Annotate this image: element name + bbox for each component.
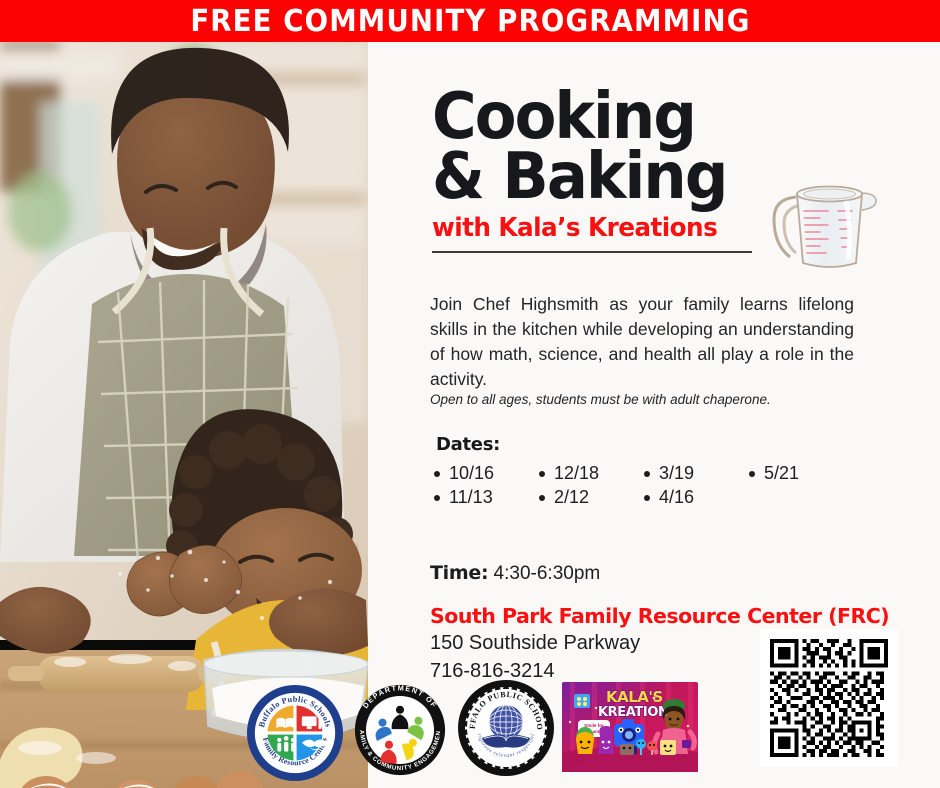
description-paragraph: Join Chef Highsmith as your family learn… bbox=[430, 292, 854, 391]
venue-name: South Park Family Resource Center (FRC) bbox=[430, 604, 889, 628]
dates-column: 3/19 4/16 bbox=[644, 462, 749, 510]
date-item: 12/18 bbox=[539, 462, 644, 486]
bullet-icon bbox=[644, 495, 650, 501]
date-item: 5/21 bbox=[749, 462, 854, 486]
dates-column: 12/18 2/12 bbox=[539, 462, 644, 510]
date-value: 11/13 bbox=[449, 486, 493, 510]
kalas-kreations-logo: KALA'S KREATIONS Smile for the camera bbox=[562, 682, 698, 772]
date-value: 3/19 bbox=[659, 462, 694, 486]
venue-address: 150 Southside Parkway bbox=[430, 632, 640, 655]
date-value: 5/21 bbox=[764, 462, 799, 486]
date-item: 11/13 bbox=[434, 486, 539, 510]
banner-title: FREE COMMUNITY PROGRAMMING bbox=[190, 4, 750, 39]
buffalo-public-schools-family-resource-centers-logo: Buffalo Public Schools Family Resource C… bbox=[246, 684, 344, 782]
qr-code[interactable] bbox=[760, 629, 898, 767]
department-of-family-and-community-engagement-logo: DEPARTMENT OF FAMILY & COMMUNITY ENGAGEM… bbox=[354, 684, 446, 776]
bullet-icon bbox=[644, 471, 650, 477]
date-item: 4/16 bbox=[644, 486, 749, 510]
time-value: 4:30-6:30pm bbox=[494, 563, 601, 584]
date-item: 2/12 bbox=[539, 486, 644, 510]
bullet-icon bbox=[749, 471, 755, 477]
date-item: 10/16 bbox=[434, 462, 539, 486]
buffalo-public-schools-seal-logo: BUFFALO PUBLIC SCHOOLS rigorous relevant… bbox=[456, 676, 556, 780]
measuring-cup-icon bbox=[766, 167, 882, 275]
eligibility-note: Open to all ages, students must be with … bbox=[430, 392, 870, 407]
date-item: 3/19 bbox=[644, 462, 749, 486]
bullet-icon bbox=[539, 471, 545, 477]
date-value: 10/16 bbox=[449, 462, 494, 486]
content-panel: Cooking & Baking with Kala’s Kreations bbox=[368, 42, 940, 788]
title-line-1: Cooking bbox=[432, 87, 907, 147]
time-row: Time: 4:30-6:30pm bbox=[430, 562, 600, 585]
bullet-icon bbox=[434, 471, 440, 477]
bullet-icon bbox=[434, 495, 440, 501]
date-value: 4/16 bbox=[659, 486, 694, 510]
time-label: Time: bbox=[430, 562, 488, 584]
dates-grid: 10/16 11/13 12/18 2/12 3/19 4/16 5/21 bbox=[434, 462, 854, 510]
title-divider bbox=[432, 251, 752, 253]
dates-column: 5/21 bbox=[749, 462, 854, 510]
dates-label: Dates: bbox=[436, 434, 500, 455]
hero-photo bbox=[0, 42, 368, 788]
bullet-icon bbox=[539, 495, 545, 501]
date-value: 12/18 bbox=[554, 462, 599, 486]
top-banner: FREE COMMUNITY PROGRAMMING bbox=[0, 0, 940, 42]
dates-column: 10/16 11/13 bbox=[434, 462, 539, 510]
date-value: 2/12 bbox=[554, 486, 589, 510]
